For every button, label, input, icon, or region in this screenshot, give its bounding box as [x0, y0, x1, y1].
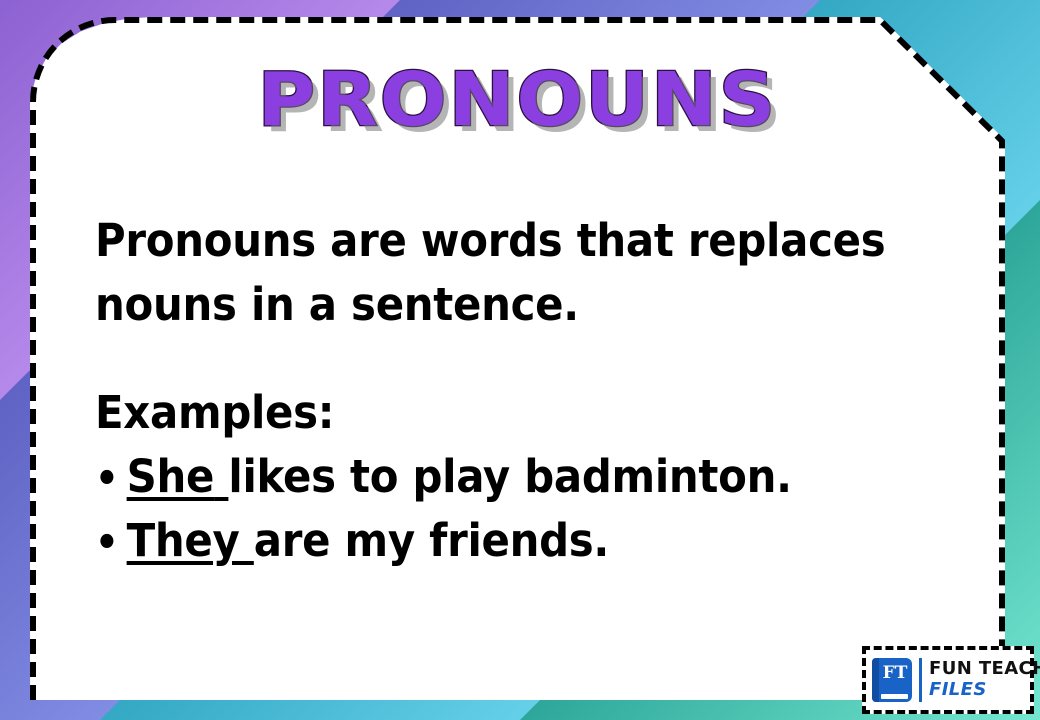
bullet-icon: •	[95, 451, 127, 508]
definition-line-2: nouns in a sentence.	[95, 273, 913, 337]
logo-wordmark: FUN TEACHER FILES	[929, 660, 1040, 700]
examples-heading: Examples:	[95, 381, 913, 445]
lesson-body: Pronouns are words that replaces nouns i…	[95, 209, 913, 572]
underlined-pronoun: They	[127, 514, 240, 567]
example-sentence-2: They are my friends.	[127, 509, 914, 573]
fun-teacher-files-logo: FT FUN TEACHER FILES	[862, 646, 1034, 714]
example-sentence-1-rest: likes to play badminton.	[228, 450, 791, 503]
logo-line-1: FUN TEACHER	[929, 660, 1040, 679]
underlined-pronoun: She	[127, 450, 214, 503]
list-item: • They are my friends.	[95, 509, 913, 573]
underline-trailing-space	[214, 450, 228, 503]
logo-divider	[919, 658, 922, 702]
list-item: • She likes to play badminton.	[95, 445, 913, 509]
underline-trailing-space	[240, 514, 254, 567]
book-icon: FT	[872, 658, 912, 702]
text-spacer	[95, 337, 913, 381]
pronouns-poster: PRONOUNS Pronouns are words that replace…	[0, 0, 1040, 720]
book-spine-shape	[872, 658, 879, 702]
page-title: PRONOUNS	[1, 63, 1035, 137]
logo-line-2: FILES	[929, 681, 1040, 700]
book-initials: FT	[880, 665, 910, 682]
definition-line-1: Pronouns are words that replaces	[95, 209, 913, 273]
example-sentence-1: She likes to play badminton.	[127, 445, 914, 509]
card-content: PRONOUNS Pronouns are words that replace…	[30, 17, 1005, 700]
example-sentence-2-rest: are my friends.	[254, 514, 609, 567]
book-page-shape	[881, 694, 908, 699]
bullet-icon: •	[95, 515, 127, 572]
